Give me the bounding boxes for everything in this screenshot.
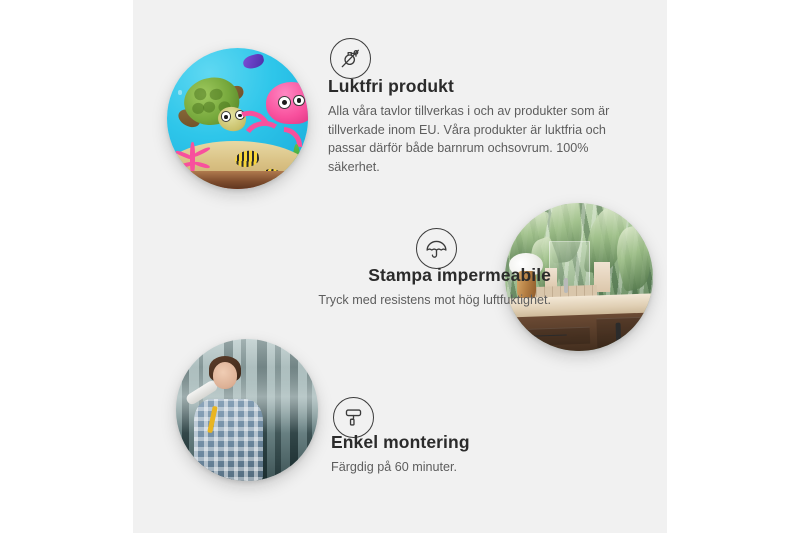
woman-plaid-shirt xyxy=(194,399,262,481)
feature-odourless-title: Luktfri produkt xyxy=(328,76,628,97)
wood-vanity-cabinet xyxy=(505,313,653,351)
feature-assembly-description: Färgdig på 60 minuter. xyxy=(331,458,591,477)
umbrella-icon xyxy=(416,228,457,269)
feature-odourless: Luktfri produkt Alla våra tavlor tillver… xyxy=(328,76,628,177)
no-fragrance-icon xyxy=(330,38,371,79)
no-fragrance-icon-wrapper xyxy=(330,38,371,79)
feature-waterproof-description: Tryck med resistens mot hög luftfuktighe… xyxy=(218,291,551,310)
image-woman-with-paint-roller xyxy=(176,339,318,481)
promo-graphic: Luktfri produkt Alla våra tavlor tillver… xyxy=(0,0,800,533)
woman-face xyxy=(213,362,237,389)
ocean-floor-shelf xyxy=(167,171,308,189)
feature-waterproof-title: Stampa impermeabile xyxy=(218,265,551,286)
content-panel: Luktfri produkt Alla våra tavlor tillver… xyxy=(133,0,667,533)
feature-assembly: Enkel montering Färgdig på 60 minuter. xyxy=(331,432,591,477)
feature-waterproof: Stampa impermeabile Tryck med resistens … xyxy=(218,265,551,310)
faucet-icon xyxy=(564,278,568,293)
turtle-eye xyxy=(221,111,231,121)
image-underwater-cartoon-mural xyxy=(167,48,308,189)
feature-assembly-title: Enkel montering xyxy=(331,432,591,453)
umbrella-icon-wrapper xyxy=(416,228,457,269)
feature-odourless-description: Alla våra tavlor tillverkas i och av pro… xyxy=(328,102,628,178)
